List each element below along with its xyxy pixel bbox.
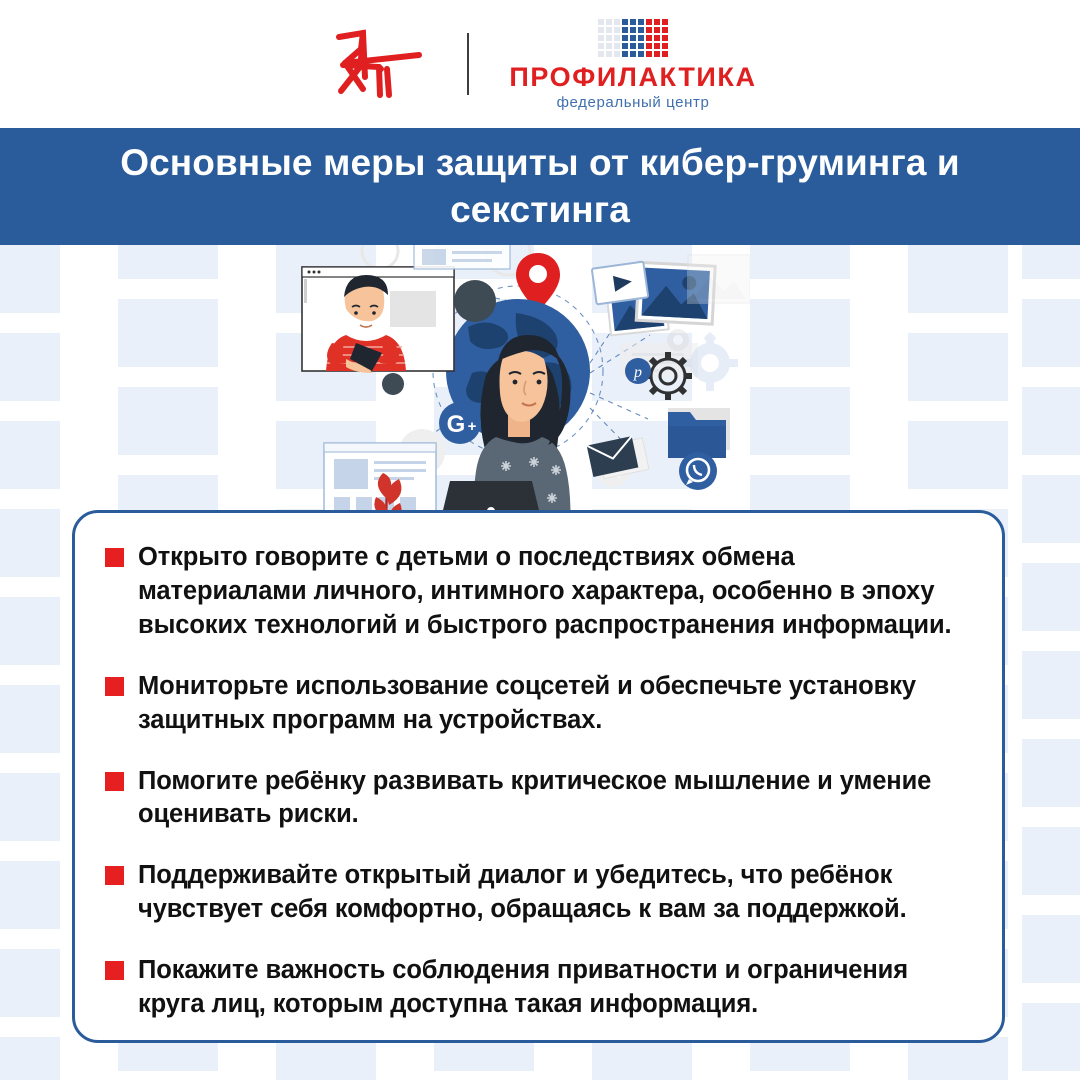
flag-pixel bbox=[630, 43, 636, 49]
brand-name: ПРОФИЛАКТИКА bbox=[509, 64, 756, 91]
flag-pixel bbox=[654, 35, 660, 41]
list-item-text: Мониторьте использование соцсетей и обес… bbox=[138, 670, 966, 738]
flag-pixel bbox=[638, 51, 644, 57]
background-grid-cell bbox=[118, 387, 218, 455]
google-plus-icon: G + bbox=[439, 402, 481, 444]
flag-pixel bbox=[654, 51, 660, 57]
background-grid-cell bbox=[0, 949, 60, 1017]
flag-pixel bbox=[622, 35, 628, 41]
page-title: Основные меры защиты от кибер-груминга и… bbox=[90, 140, 990, 233]
flag-pixel bbox=[654, 43, 660, 49]
background-grid-cell bbox=[1022, 739, 1080, 807]
list-item-text: Открыто говорите с детьми о последствиях… bbox=[138, 541, 966, 643]
background-grid-cell bbox=[1022, 827, 1080, 895]
svg-text:p: p bbox=[633, 364, 642, 381]
background-grid-cell bbox=[1022, 1003, 1080, 1071]
flag-pixel bbox=[622, 43, 628, 49]
flag-pixel bbox=[606, 27, 612, 33]
flag-pixel bbox=[630, 35, 636, 41]
flag-pixel bbox=[654, 27, 660, 33]
flag-pixel bbox=[646, 35, 652, 41]
flag-pixel bbox=[646, 27, 652, 33]
flag-pixel bbox=[598, 43, 604, 49]
list-item: Мониторьте использование соцсетей и обес… bbox=[105, 670, 966, 738]
flag-pixel bbox=[598, 19, 604, 25]
flag-pixel bbox=[606, 35, 612, 41]
background-grid-cell bbox=[0, 1037, 60, 1080]
russian-flag-grid-icon bbox=[598, 19, 668, 57]
background-grid-cell bbox=[0, 333, 60, 401]
background-grid-cell bbox=[118, 299, 218, 367]
woman-online-network-illustration: in Bē bbox=[290, 243, 750, 533]
svg-text:G: G bbox=[447, 411, 466, 438]
list-item: Покажите важность соблюдения приватности… bbox=[105, 954, 966, 1022]
flag-pixel bbox=[654, 19, 660, 25]
flag-pixel bbox=[614, 43, 620, 49]
bullet-square-icon bbox=[105, 772, 124, 791]
background-grid-cell bbox=[908, 1037, 1008, 1080]
brand-block: ПРОФИЛАКТИКА федеральный центр bbox=[509, 19, 756, 110]
flag-pixel bbox=[614, 27, 620, 33]
flag-pixel bbox=[614, 19, 620, 25]
flag-pixel bbox=[614, 35, 620, 41]
background-grid-cell bbox=[0, 773, 60, 841]
flag-pixel bbox=[638, 35, 644, 41]
flag-pixel bbox=[598, 27, 604, 33]
flag-pixel bbox=[622, 51, 628, 57]
background-grid-cell bbox=[0, 861, 60, 929]
flag-pixel bbox=[662, 27, 668, 33]
bullet-square-icon bbox=[105, 677, 124, 696]
background-grid-cell bbox=[1022, 387, 1080, 455]
background-grid-cell bbox=[908, 245, 1008, 313]
background-grid-cell bbox=[1022, 563, 1080, 631]
background-grid-cell bbox=[0, 245, 60, 313]
flag-pixel bbox=[598, 51, 604, 57]
svg-text:+: + bbox=[468, 418, 477, 435]
background-grid-cell bbox=[0, 597, 60, 665]
recommendations-list: Открыто говорите с детьми о последствиях… bbox=[105, 541, 966, 1022]
flag-pixel bbox=[646, 19, 652, 25]
flag-pixel bbox=[662, 43, 668, 49]
background-grid-cell bbox=[908, 333, 1008, 401]
flag-pixel bbox=[646, 51, 652, 57]
list-item-text: Поддерживайте открытый диалог и убедитес… bbox=[138, 859, 966, 927]
flag-pixel bbox=[662, 19, 668, 25]
flag-pixel bbox=[638, 19, 644, 25]
flag-pixel bbox=[622, 19, 628, 25]
background-grid-cell bbox=[1022, 915, 1080, 983]
flag-pixel bbox=[638, 43, 644, 49]
bullet-square-icon bbox=[105, 866, 124, 885]
whatsapp-icon bbox=[679, 452, 717, 490]
list-item: Открыто говорите с детьми о последствиях… bbox=[105, 541, 966, 643]
background-grid-cell bbox=[276, 1037, 376, 1080]
background-grid-cell bbox=[908, 421, 1008, 489]
bullet-square-icon bbox=[105, 961, 124, 980]
background-grid-cell bbox=[0, 685, 60, 753]
infographic-page: ПРОФИЛАКТИКА федеральный центр Основные … bbox=[0, 0, 1080, 1080]
deer-line-art-icon bbox=[323, 19, 433, 109]
bullet-square-icon bbox=[105, 548, 124, 567]
flag-pixel bbox=[614, 51, 620, 57]
recommendations-card: Открыто говорите с детьми о последствиях… bbox=[72, 510, 1005, 1043]
flag-pixel bbox=[630, 27, 636, 33]
background-grid-cell bbox=[592, 1037, 692, 1080]
logo-divider bbox=[467, 33, 469, 95]
flag-pixel bbox=[638, 27, 644, 33]
flag-pixel bbox=[662, 51, 668, 57]
list-item-text: Помогите ребёнку развивать критическое м… bbox=[138, 765, 966, 833]
flag-pixel bbox=[622, 27, 628, 33]
background-grid-cell bbox=[0, 421, 60, 489]
background-grid-cell bbox=[750, 299, 850, 367]
flag-pixel bbox=[606, 19, 612, 25]
list-item-text: Покажите важность соблюдения приватности… bbox=[138, 954, 966, 1022]
title-banner: Основные меры защиты от кибер-груминга и… bbox=[0, 128, 1080, 245]
flag-pixel bbox=[606, 43, 612, 49]
flag-pixel bbox=[662, 35, 668, 41]
brand-subtitle: федеральный центр bbox=[557, 95, 710, 110]
logo-header: ПРОФИЛАКТИКА федеральный центр bbox=[0, 0, 1080, 128]
flag-pixel bbox=[606, 51, 612, 57]
flag-pixel bbox=[646, 43, 652, 49]
background-grid-cell bbox=[1022, 475, 1080, 543]
background-grid-cell bbox=[750, 387, 850, 455]
background-grid-cell bbox=[1022, 299, 1080, 367]
flag-pixel bbox=[630, 19, 636, 25]
background-grid-cell bbox=[1022, 651, 1080, 719]
list-item: Поддерживайте открытый диалог и убедитес… bbox=[105, 859, 966, 927]
list-item: Помогите ребёнку развивать критическое м… bbox=[105, 765, 966, 833]
flag-pixel bbox=[598, 35, 604, 41]
background-grid-cell bbox=[0, 509, 60, 577]
pinterest-icon: p bbox=[625, 358, 651, 384]
flag-pixel bbox=[630, 51, 636, 57]
